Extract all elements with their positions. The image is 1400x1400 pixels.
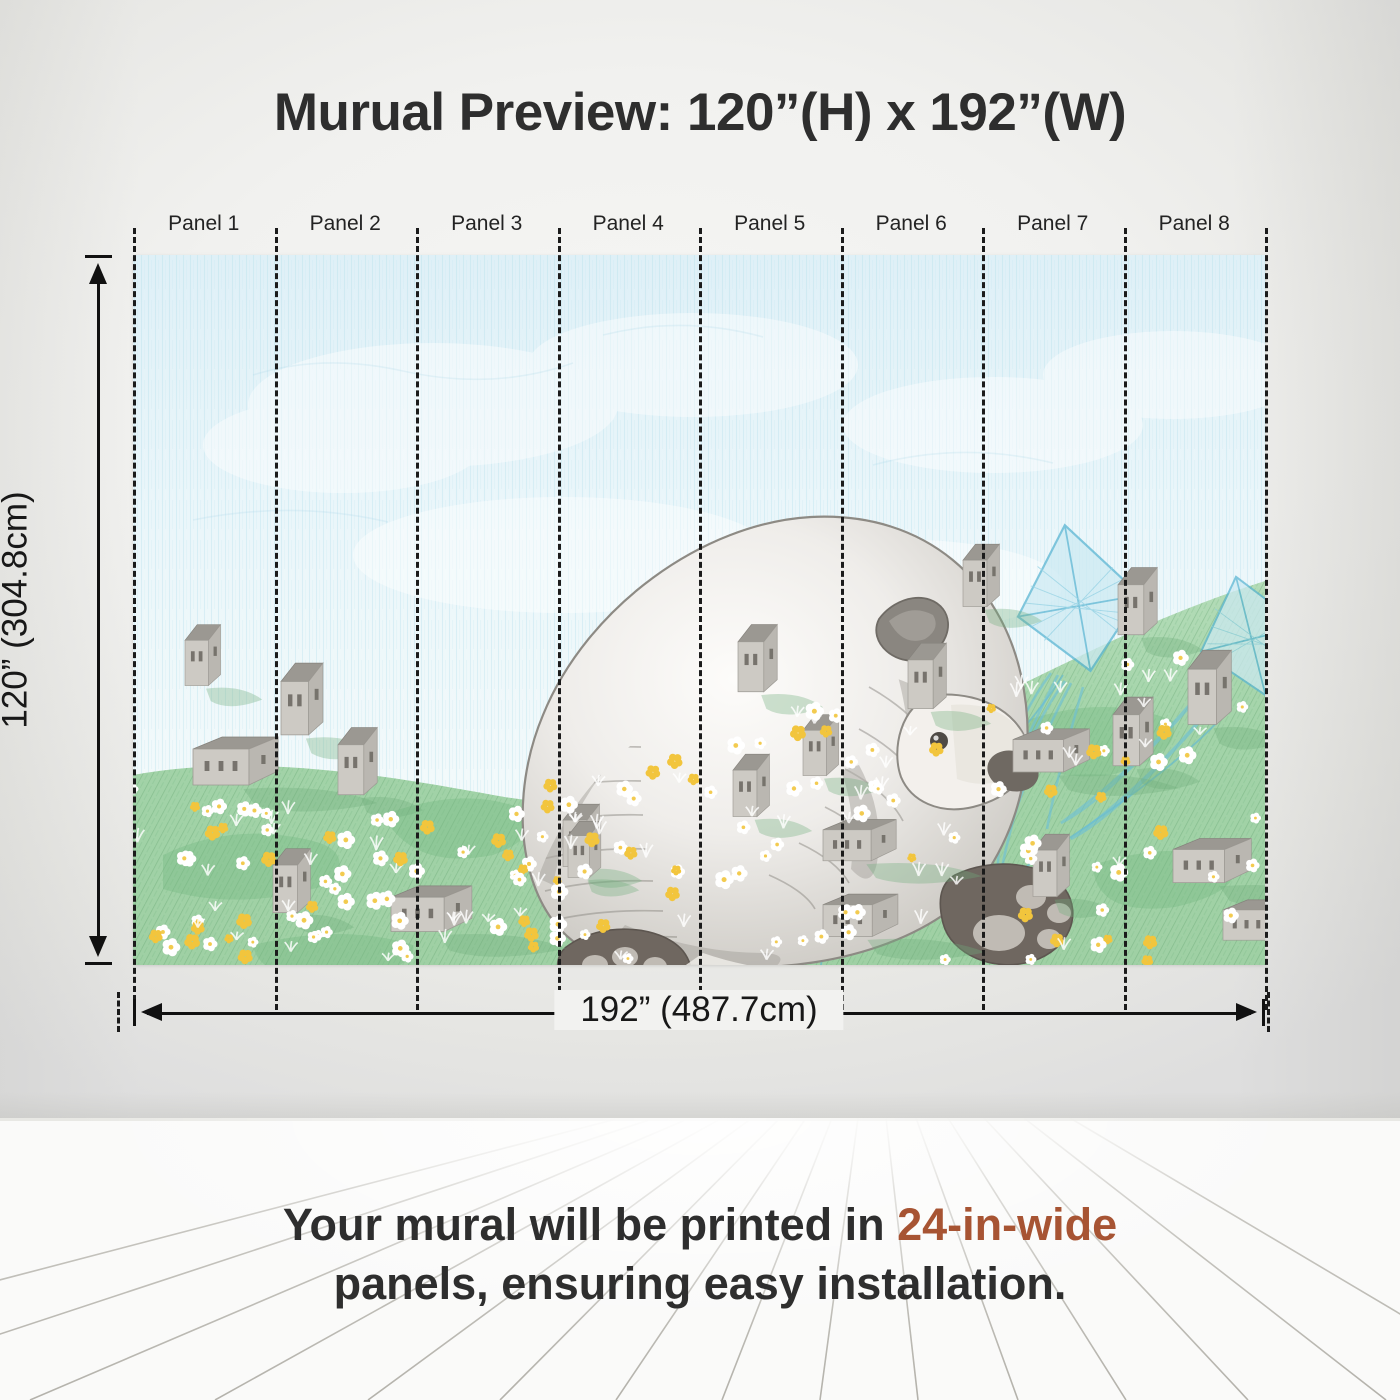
print-caption: Your mural will be printed in 24-in-wide… [0,1196,1400,1313]
panel-divider-6 [982,228,985,1010]
panel-divider-2 [416,228,419,1010]
caption-accent: 24-in-wide [897,1199,1117,1250]
width-tick-left [117,992,120,1032]
panel-divider-5 [841,228,844,1010]
panel-divider-1 [275,228,278,1010]
panel-label-2: Panel 2 [275,212,417,236]
width-tick-right [1267,992,1270,1032]
height-label: 120” (304.8cm) [0,491,36,728]
caption-line-2: panels, ensuring easy installation. [0,1255,1400,1314]
panel-divider-4 [699,228,702,1010]
caption-line-1: Your mural will be printed in 24-in-wide [0,1196,1400,1255]
panel-divider-8 [1265,228,1268,1010]
panel-label-8: Panel 8 [1124,212,1266,236]
wall-floor-shadow [0,1092,1400,1118]
panel-divider-7 [1124,228,1127,1010]
panel-label-7: Panel 7 [982,212,1124,236]
width-cap-left [133,999,136,1026]
width-arrow-left [141,1003,162,1021]
height-arrow-bottom [89,936,107,957]
panel-label-3: Panel 3 [416,212,558,236]
panel-label-6: Panel 6 [841,212,983,236]
height-line [97,269,100,951]
width-label: 192” (487.7cm) [554,990,843,1030]
width-arrow-right [1236,1003,1257,1021]
height-dimension: 120” (304.8cm) [97,255,99,965]
panel-label-4: Panel 4 [558,212,700,236]
panel-divider-3 [558,228,561,1010]
caption-line-1-text: Your mural will be printed in [283,1199,897,1250]
page-title: Murual Preview: 120”(H) x 192”(W) [0,82,1400,143]
height-cap-bottom [85,962,112,965]
panel-label-5: Panel 5 [699,212,841,236]
height-cap-top [85,255,112,258]
width-cap-right [1262,999,1265,1026]
panel-label-1: Panel 1 [133,212,275,236]
panel-divider-0 [133,228,136,1010]
width-dimension: 192” (487.7cm) [133,1012,1265,1014]
height-arrow-top [89,263,107,284]
